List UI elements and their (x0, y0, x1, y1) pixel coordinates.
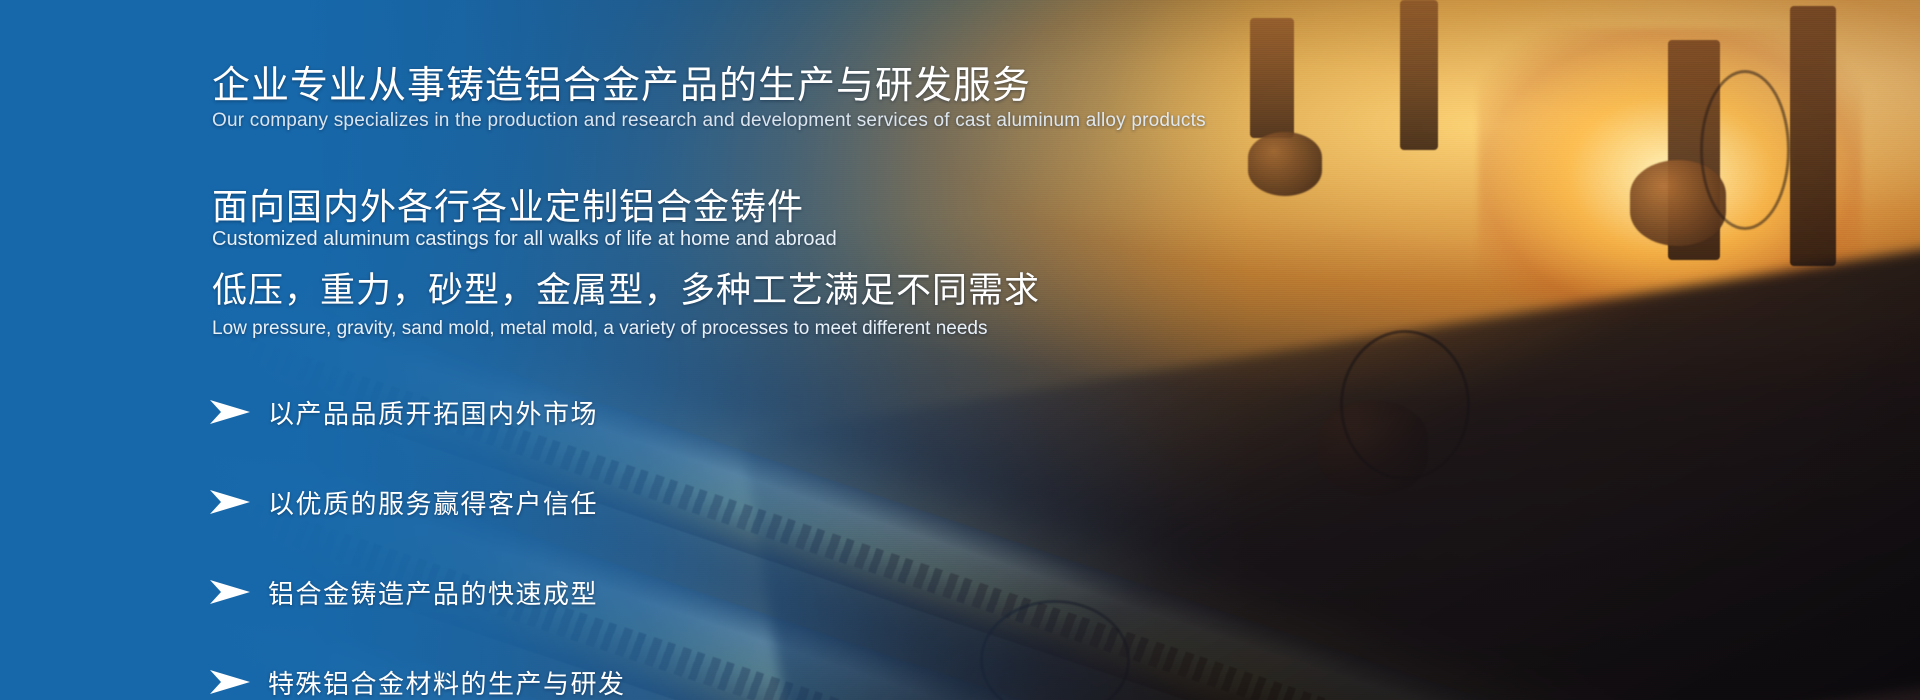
heading-2-zh: 面向国内外各行各业定制铝合金铸件 (212, 178, 804, 230)
heading-1-zh: 企业专业从事铸造铝合金产品的生产与研发服务 (212, 54, 1031, 109)
heading-3-en: Low pressure, gravity, sand mold, metal … (212, 318, 988, 340)
list-item: 特殊铝合金材料的生产与研发 (208, 662, 626, 700)
heading-1-en: Our company specializes in the productio… (212, 110, 1206, 132)
list-item: 以产品品质开拓国内外市场 (208, 392, 626, 432)
list-item: 铝合金铸造产品的快速成型 (208, 572, 626, 612)
arrow-right-icon (208, 669, 252, 695)
feature-list: 以产品品质开拓国内外市场 以优质的服务赢得客户信任 铝合金铸造产品的快速成型 (208, 392, 626, 700)
heading-2-en: Customized aluminum castings for all wal… (212, 228, 837, 251)
hero-banner: 企业专业从事铸造铝合金产品的生产与研发服务 Our company specia… (0, 0, 1920, 700)
arrow-right-icon (208, 489, 252, 515)
arrow-right-icon (208, 399, 252, 425)
arrow-right-icon (208, 579, 252, 605)
banner-content: 企业专业从事铸造铝合金产品的生产与研发服务 Our company specia… (0, 0, 1920, 700)
list-item-label: 以优质的服务赢得客户信任 (268, 484, 598, 521)
heading-3-zh: 低压，重力，砂型，金属型，多种工艺满足不同需求 (212, 262, 1040, 313)
list-item-label: 铝合金铸造产品的快速成型 (268, 574, 598, 611)
list-item-label: 特殊铝合金材料的生产与研发 (268, 664, 626, 700)
list-item: 以优质的服务赢得客户信任 (208, 482, 626, 522)
list-item-label: 以产品品质开拓国内外市场 (268, 394, 598, 431)
